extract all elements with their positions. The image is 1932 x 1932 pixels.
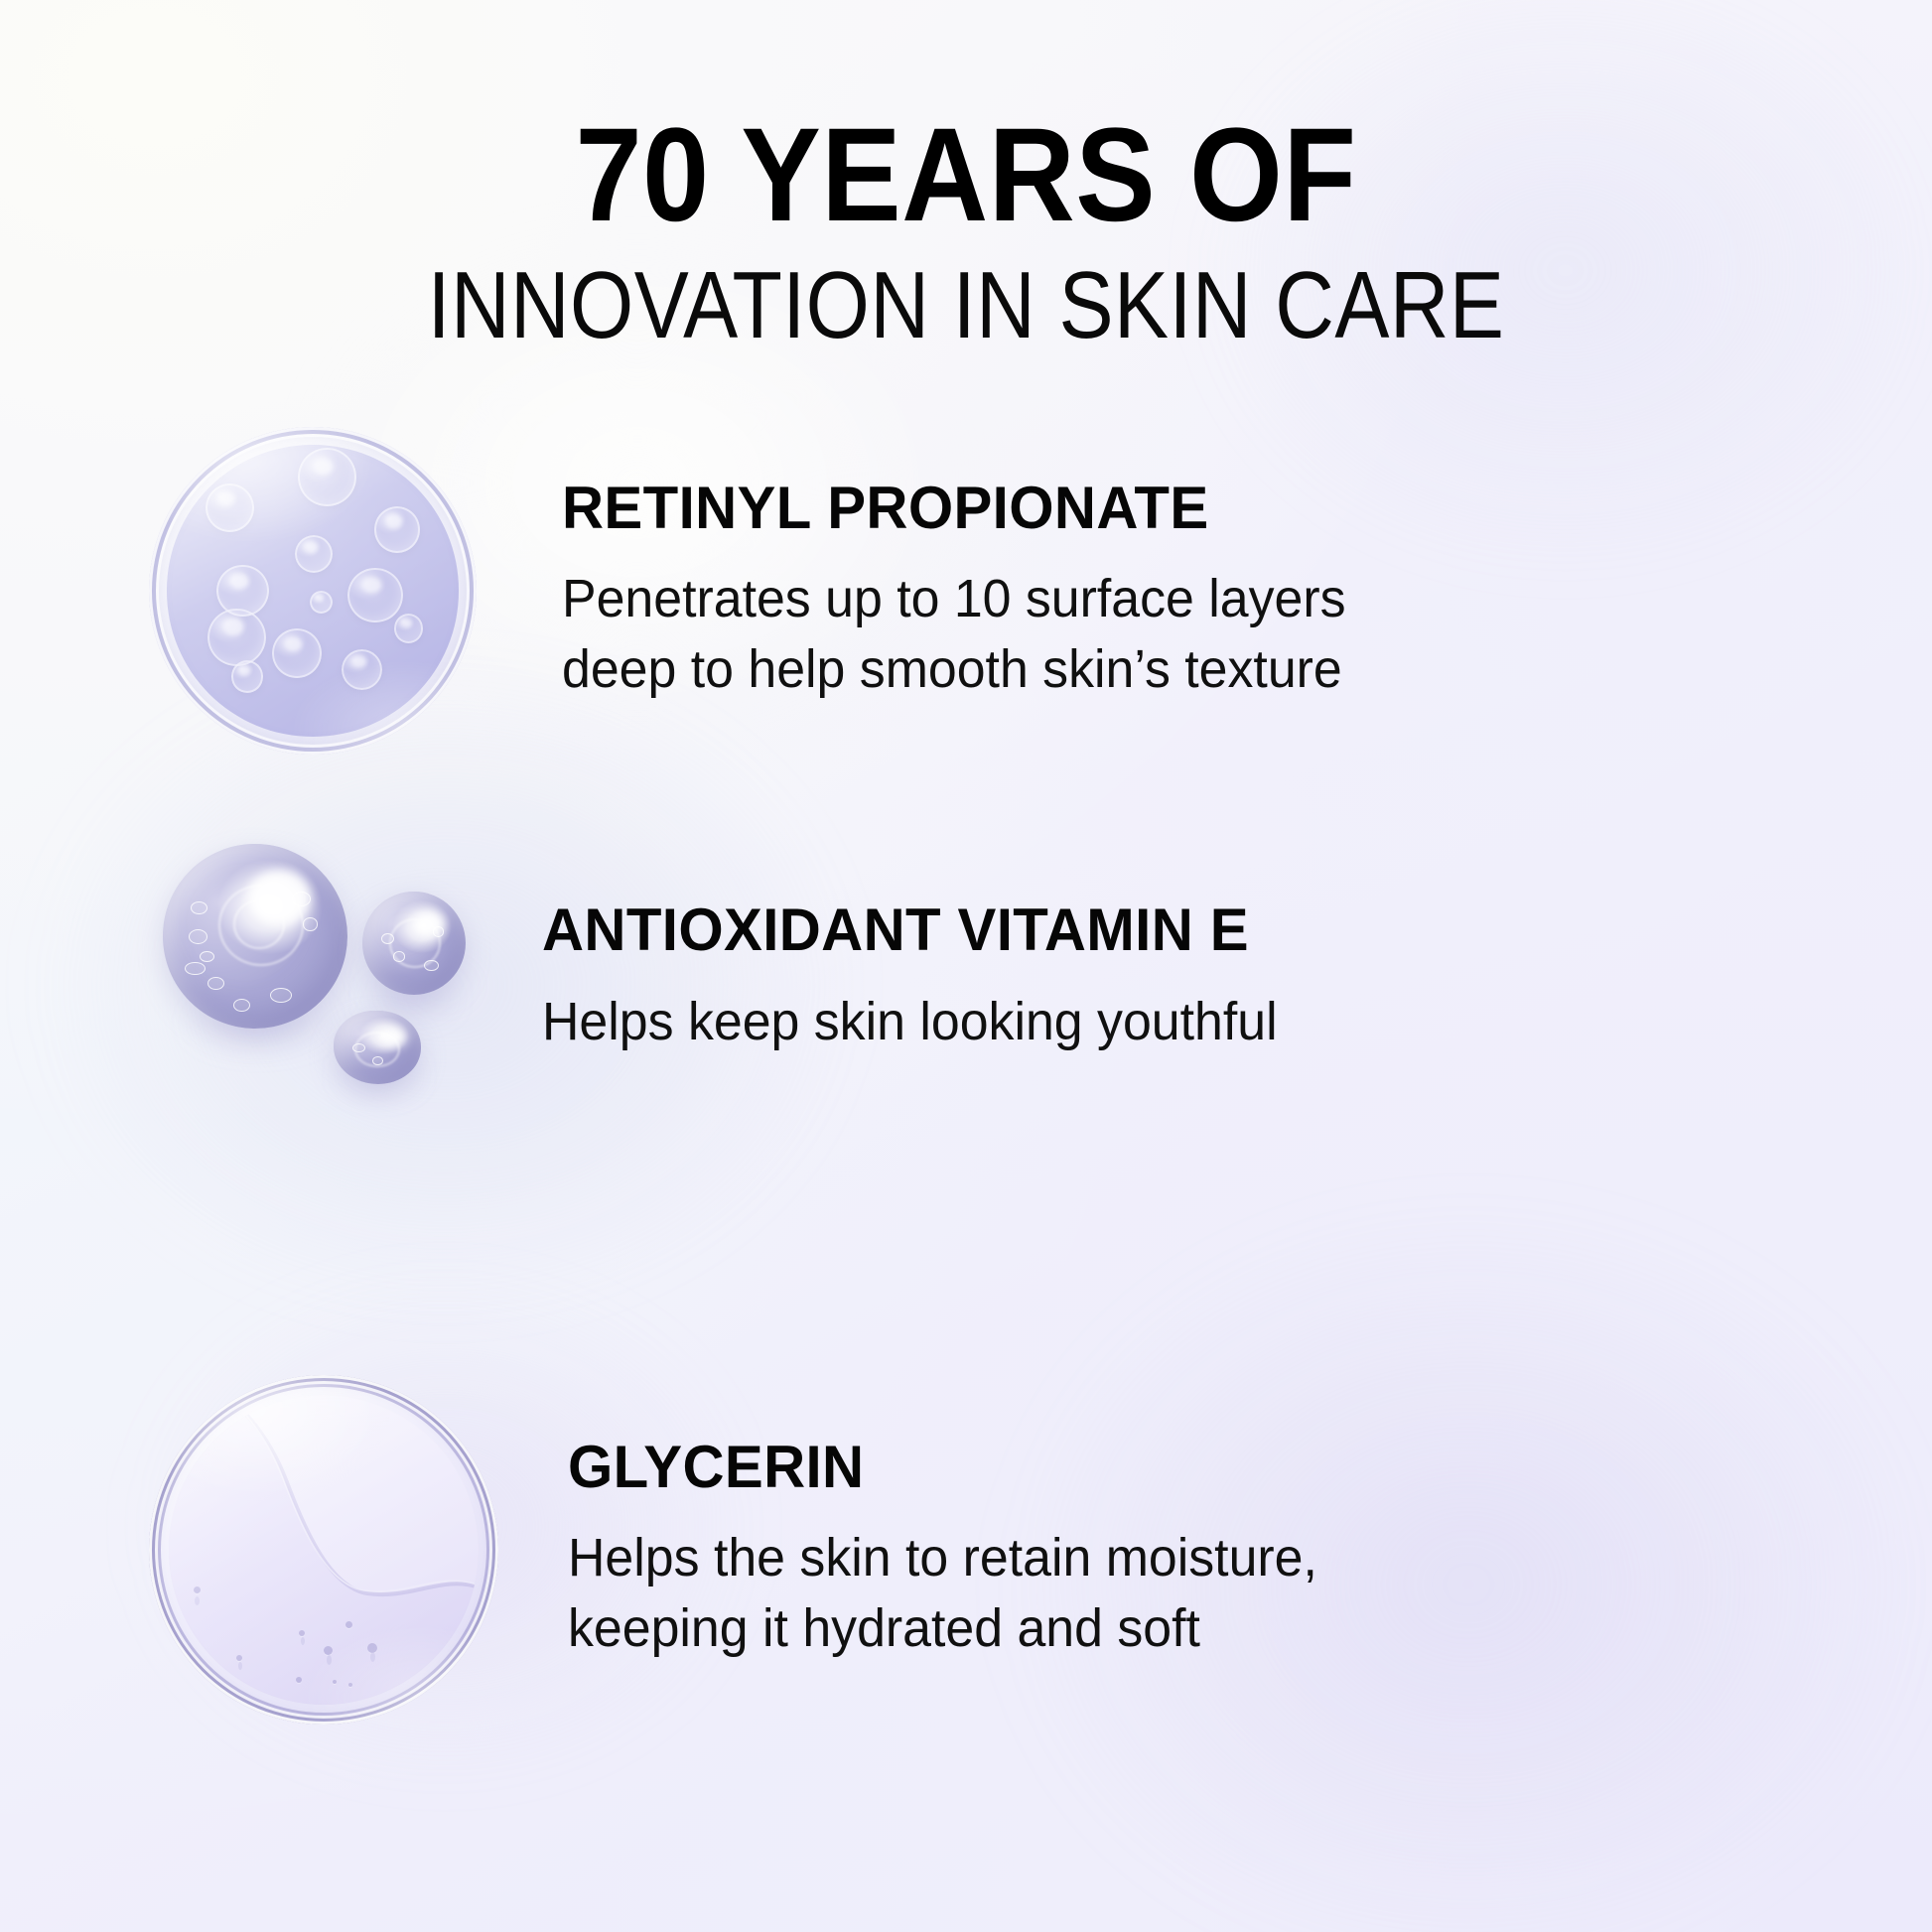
ingredient-text-retinyl-propionate: RETINYL PROPIONATE Penetrates up to 10 s…	[562, 478, 1378, 704]
petri-dish-icon	[149, 427, 477, 755]
ingredient-description: Helps keep skin looking youthful	[542, 987, 1278, 1056]
ingredient-description: Penetrates up to 10 surface layers deep …	[562, 564, 1346, 703]
micro-bubble-icon	[424, 960, 438, 971]
micro-bubble-icon	[303, 917, 318, 930]
petri-dish-icon	[149, 1375, 498, 1725]
micro-bubble-icon	[185, 962, 206, 975]
micro-bubble-icon	[191, 901, 207, 914]
gel-sphere-large-icon	[163, 844, 347, 1029]
gel-sphere-medium-icon	[362, 892, 466, 995]
sphere-swirl	[233, 899, 285, 950]
micro-bubble-icon	[393, 951, 404, 961]
ingredient-text-antioxidant-vitamin-e: ANTIOXIDANT VITAMIN E Helps keep skin lo…	[542, 899, 1308, 1055]
headline-primary: 70 YEARS OF	[96, 109, 1835, 242]
micro-bubble-icon	[352, 1043, 365, 1052]
headline-secondary: INNOVATION IN SKIN CARE	[135, 258, 1797, 353]
ingredient-description: Helps the skin to retain moisture, keepi…	[568, 1523, 1317, 1662]
micro-bubble-icon	[381, 933, 394, 944]
ingredient-visual-antioxidant-vitamin-e	[149, 834, 477, 1122]
ingredient-row-retinyl-propionate: RETINYL PROPIONATE Penetrates up to 10 s…	[149, 427, 1378, 755]
ingredient-row-antioxidant-vitamin-e: ANTIOXIDANT VITAMIN E Helps keep skin lo…	[149, 834, 1308, 1122]
micro-bubble-icon	[433, 926, 444, 936]
micro-bubble-icon	[270, 988, 292, 1003]
ingredient-name: GLYCERIN	[568, 1437, 1325, 1497]
micro-bubble-icon	[233, 999, 250, 1012]
micro-bubble-icon	[189, 929, 207, 944]
micro-bubble-icon	[207, 977, 224, 990]
ingredient-name: ANTIOXIDANT VITAMIN E	[542, 899, 1285, 960]
ingredient-visual-retinyl-propionate	[149, 427, 477, 755]
page-title: 70 YEARS OF INNOVATION IN SKIN CARE	[0, 109, 1932, 353]
ingredient-name: RETINYL PROPIONATE	[562, 478, 1354, 538]
micro-bubble-icon	[200, 951, 214, 962]
micro-bubble-icon	[372, 1056, 383, 1065]
poster-canvas: 70 YEARS OF INNOVATION IN SKIN CARE	[0, 0, 1932, 1932]
ingredient-visual-glycerin	[149, 1375, 498, 1725]
ingredient-row-glycerin: GLYCERIN Helps the skin to retain moistu…	[149, 1375, 1348, 1725]
gel-droplet-small-icon	[334, 1011, 421, 1084]
ingredient-text-glycerin: GLYCERIN Helps the skin to retain moistu…	[568, 1437, 1348, 1663]
dish-rim	[149, 1375, 498, 1725]
dish-rim	[149, 427, 477, 755]
